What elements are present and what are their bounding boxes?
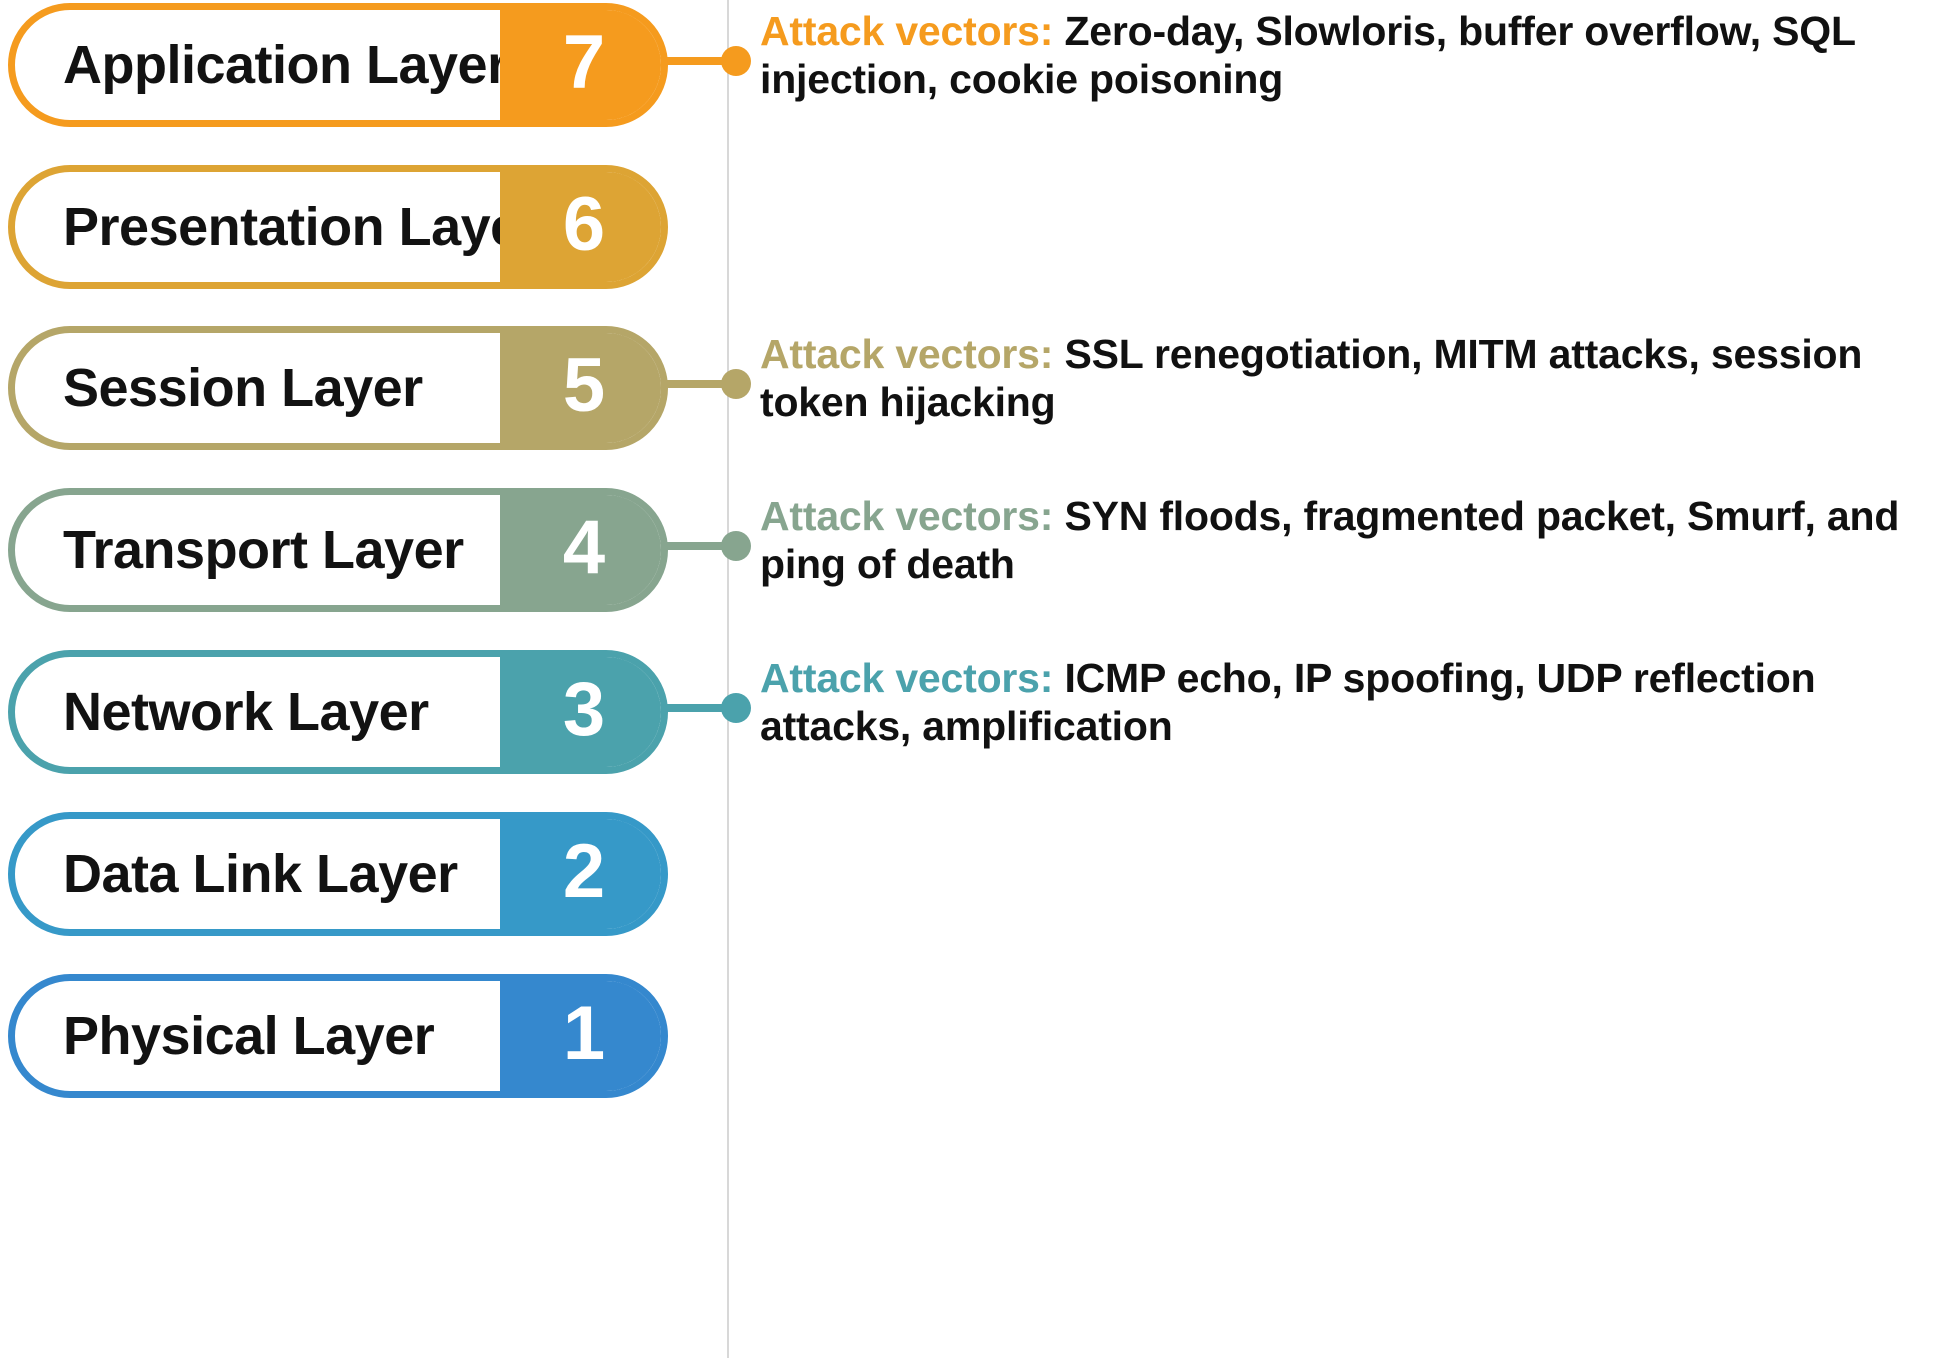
layer-number-badge: 3	[500, 650, 668, 774]
layer-name-label: Application Layer	[63, 10, 486, 120]
layer-row: Data Link Layer2	[0, 812, 1939, 952]
layer-name-label: Network Layer	[63, 657, 486, 767]
layer-number: 1	[563, 996, 605, 1072]
layer-number: 7	[563, 25, 605, 101]
layer-row: Application Layer7Attack vectors: Zero-d…	[0, 3, 1939, 143]
connector-dot	[721, 531, 751, 561]
osi-layer-diagram: Application Layer7Attack vectors: Zero-d…	[0, 0, 1939, 1358]
connector-dot	[721, 369, 751, 399]
layer-pill-application-layer[interactable]: Application Layer7	[8, 3, 668, 127]
layer-row: Presentation Layer6	[0, 165, 1939, 305]
attack-vectors-note: Attack vectors: SYN floods, fragmented p…	[760, 493, 1930, 589]
layer-number-badge: 2	[500, 812, 668, 936]
layer-pill-transport-layer[interactable]: Transport Layer4	[8, 488, 668, 612]
attack-vectors-label: Attack vectors:	[760, 331, 1053, 377]
attack-vectors-note: Attack vectors: Zero-day, Slowloris, buf…	[760, 8, 1930, 104]
layer-name-label: Session Layer	[63, 333, 486, 443]
attack-vectors-label: Attack vectors:	[760, 493, 1053, 539]
layer-number-badge: 7	[500, 3, 668, 127]
layer-name-label: Data Link Layer	[63, 819, 486, 929]
attack-vectors-label: Attack vectors:	[760, 8, 1053, 54]
layer-pill-presentation-layer[interactable]: Presentation Layer6	[8, 165, 668, 289]
layer-number: 3	[563, 672, 605, 748]
attack-vectors-label: Attack vectors:	[760, 655, 1053, 701]
layer-row: Transport Layer4Attack vectors: SYN floo…	[0, 488, 1939, 628]
attack-vectors-note: Attack vectors: SSL renegotiation, MITM …	[760, 331, 1930, 427]
layer-number-badge: 6	[500, 165, 668, 289]
layer-pill-network-layer[interactable]: Network Layer3	[8, 650, 668, 774]
layer-pill-data-link-layer[interactable]: Data Link Layer2	[8, 812, 668, 936]
layer-pill-physical-layer[interactable]: Physical Layer1	[8, 974, 668, 1098]
layer-name-label: Physical Layer	[63, 981, 486, 1091]
layer-pill-session-layer[interactable]: Session Layer5	[8, 326, 668, 450]
layer-number: 6	[563, 187, 605, 263]
layer-row: Network Layer3Attack vectors: ICMP echo,…	[0, 650, 1939, 790]
connector-dot	[721, 693, 751, 723]
connector-dot	[721, 46, 751, 76]
layer-number-badge: 1	[500, 974, 668, 1098]
layer-row: Session Layer5Attack vectors: SSL renego…	[0, 326, 1939, 466]
layer-number: 2	[563, 834, 605, 910]
layer-number-badge: 5	[500, 326, 668, 450]
layer-number: 5	[563, 348, 605, 424]
layer-number-badge: 4	[500, 488, 668, 612]
attack-vectors-note: Attack vectors: ICMP echo, IP spoofing, …	[760, 655, 1930, 751]
layer-name-label: Transport Layer	[63, 495, 486, 605]
layer-name-label: Presentation Layer	[63, 172, 486, 282]
layer-number: 4	[563, 510, 605, 586]
layer-row: Physical Layer1	[0, 974, 1939, 1114]
